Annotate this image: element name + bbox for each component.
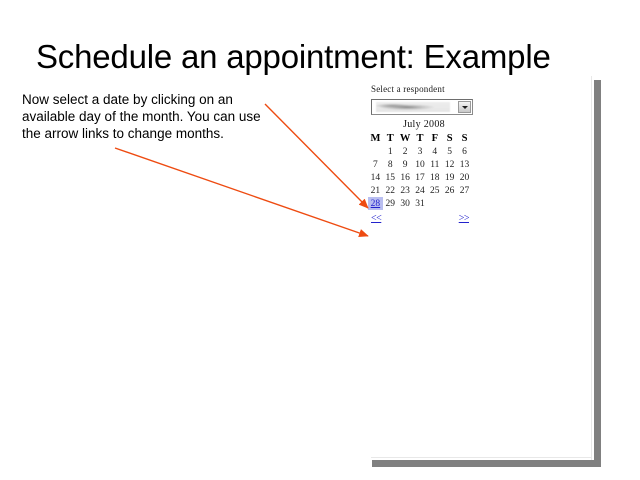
weekday-header: F — [427, 132, 442, 145]
calendar-day-cell: 6 — [457, 145, 472, 158]
calendar-day-cell: 5 — [442, 145, 457, 158]
annotation-arrow-to-nav-links — [115, 148, 368, 236]
calendar-day-cell: 7 — [368, 158, 383, 171]
calendar-day-cell — [442, 197, 457, 210]
calendar-week-row: 14 15 16 17 18 19 20 — [368, 171, 472, 184]
calendar-week-row: 1 2 3 4 5 6 — [368, 145, 472, 158]
calendar-week-row: 28 29 30 31 — [368, 197, 472, 210]
calendar-week-row: 21 22 23 24 25 26 27 — [368, 184, 472, 197]
calendar-navigation: << >> — [368, 213, 472, 225]
calendar-day-cell: 13 — [457, 158, 472, 171]
calendar-week-row: 7 8 9 10 11 12 13 — [368, 158, 472, 171]
calendar-day-cell: 8 — [383, 158, 398, 171]
weekday-header: W — [398, 132, 413, 145]
prev-month-link[interactable]: << — [371, 213, 381, 224]
capture-shadow-bottom — [372, 460, 601, 467]
chevron-down-glyph — [462, 106, 468, 109]
respondent-selected-value — [376, 102, 450, 112]
page-title: Schedule an appointment: Example — [36, 38, 616, 76]
weekday-header: T — [413, 132, 428, 145]
calendar-day-cell: 20 — [457, 171, 472, 184]
calendar-day-cell: 25 — [427, 184, 442, 197]
calendar-weekday-row: M T W T F S S — [368, 132, 472, 145]
calendar-grid: M T W T F S S 1 2 3 4 5 6 — [368, 132, 472, 210]
calendar-day-cell: 27 — [457, 184, 472, 197]
instruction-text: Now select a date by clicking on an avai… — [22, 91, 268, 142]
calendar-day-cell — [457, 197, 472, 210]
calendar-day-cell — [368, 145, 383, 158]
calendar-day-cell: 2 — [398, 145, 413, 158]
annotation-arrow-to-day — [265, 104, 368, 208]
calendar-day-cell: 21 — [368, 184, 383, 197]
calendar-day-cell: 19 — [442, 171, 457, 184]
calendar-day-cell: 14 — [368, 171, 383, 184]
calendar-day-selected[interactable]: 28 — [368, 197, 383, 210]
calendar-day-cell: 10 — [413, 158, 428, 171]
weekday-header: T — [383, 132, 398, 145]
calendar-month-heading: July 2008 — [368, 119, 480, 130]
respondent-label: Select a respondent — [371, 84, 480, 94]
calendar-day-cell: 15 — [383, 171, 398, 184]
calendar-day-cell: 9 — [398, 158, 413, 171]
capture-edge-bottom — [371, 457, 592, 458]
appointment-scheduler-capture: Select a respondent July 2008 M T W T F … — [368, 84, 480, 225]
capture-edge-right — [591, 76, 592, 464]
calendar-day-cell: 1 — [383, 145, 398, 158]
calendar-day-cell: 31 — [413, 197, 428, 210]
next-month-link[interactable]: >> — [459, 213, 469, 224]
calendar-day-cell: 12 — [442, 158, 457, 171]
calendar-day-cell: 4 — [427, 145, 442, 158]
calendar-day-cell: 18 — [427, 171, 442, 184]
calendar-day-cell: 16 — [398, 171, 413, 184]
calendar-day-cell: 11 — [427, 158, 442, 171]
calendar-day-cell: 26 — [442, 184, 457, 197]
calendar-day-cell: 30 — [398, 197, 413, 210]
calendar-day-cell: 3 — [413, 145, 428, 158]
capture-shadow-right — [594, 80, 601, 467]
calendar-day-cell: 24 — [413, 184, 428, 197]
presentation-slide: Schedule an appointment: Example Now sel… — [0, 0, 640, 480]
calendar-day-cell: 23 — [398, 184, 413, 197]
weekday-header: S — [457, 132, 472, 145]
weekday-header: S — [442, 132, 457, 145]
calendar-day-cell: 29 — [383, 197, 398, 210]
calendar-day-cell: 22 — [383, 184, 398, 197]
weekday-header: M — [368, 132, 383, 145]
respondent-select[interactable] — [371, 99, 473, 115]
calendar-day-cell — [427, 197, 442, 210]
calendar-day-cell: 17 — [413, 171, 428, 184]
chevron-down-icon[interactable] — [458, 101, 471, 113]
